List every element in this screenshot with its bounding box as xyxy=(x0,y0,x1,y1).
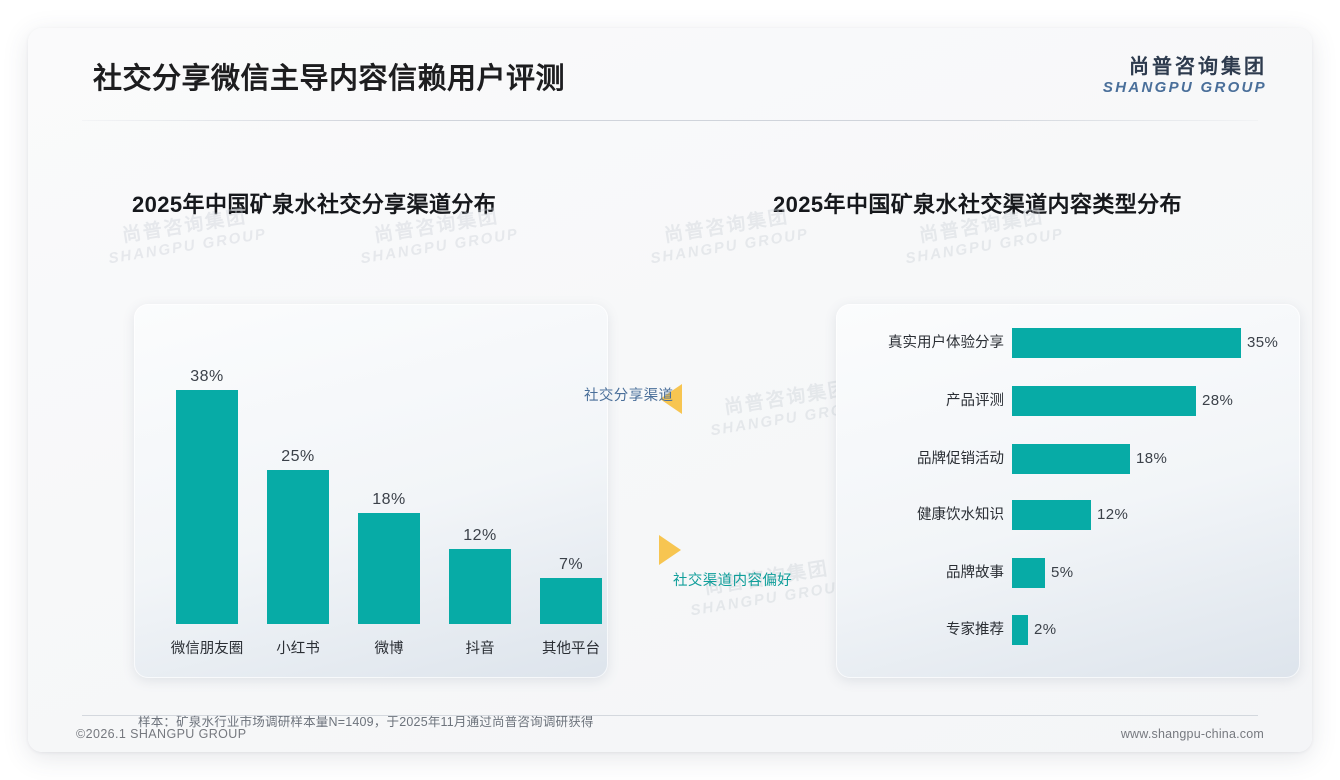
brand-logo: 尚普咨询集团 SHANGPU GROUP xyxy=(1103,57,1267,96)
slide-canvas: 社交分享微信主导内容信赖用户评测 尚普咨询集团 SHANGPU GROUP 20… xyxy=(28,28,1312,752)
bar-category-label: 品牌故事 xyxy=(836,558,1004,588)
bar-row[interactable]: 真实用户体验分享 35% xyxy=(836,328,1300,358)
bar-value: 18% xyxy=(344,491,434,509)
bar-value: 28% xyxy=(1202,386,1233,416)
bar-rect[interactable] xyxy=(540,578,602,624)
triangle-right-icon xyxy=(659,535,681,565)
annotation-label: 社交分享渠道 xyxy=(584,384,673,405)
right-chart-title: 2025年中国矿泉水社交渠道内容类型分布 xyxy=(773,187,1182,219)
right-chart-card: 真实用户体验分享 35% 产品评测 28% 品牌促销活动 18% 健康饮水知识 … xyxy=(836,304,1300,678)
bar-rect[interactable] xyxy=(1012,558,1045,588)
bar-category-label: 真实用户体验分享 xyxy=(836,328,1004,358)
bar-value: 18% xyxy=(1136,444,1167,474)
footer-website[interactable]: www.shangpu-china.com xyxy=(1121,727,1264,741)
bar-value: 12% xyxy=(1097,500,1128,530)
bar-rect[interactable] xyxy=(267,470,329,624)
bar-value: 7% xyxy=(526,556,608,574)
bar-row[interactable]: 健康饮水知识 12% xyxy=(836,500,1300,530)
bar-row[interactable]: 产品评测 28% xyxy=(836,386,1300,416)
bar-value: 5% xyxy=(1051,558,1073,588)
bar-value: 2% xyxy=(1034,615,1056,645)
bar-row[interactable]: 专家推荐 2% xyxy=(836,615,1300,645)
slide-footer: ©2026.1 SHANGPU GROUP www.shangpu-china.… xyxy=(28,716,1312,752)
vertical-bar-chart: 38% 微信朋友圈 25% 小红书 18% 微博 12% 抖音 7% xyxy=(134,304,608,678)
bar-rect[interactable] xyxy=(1012,500,1091,530)
bar-rect[interactable] xyxy=(1012,328,1241,358)
horizontal-bar-chart: 真实用户体验分享 35% 产品评测 28% 品牌促销活动 18% 健康饮水知识 … xyxy=(836,304,1300,678)
bar-category-label: 健康饮水知识 xyxy=(836,500,1004,530)
bar-rect[interactable] xyxy=(358,513,420,624)
page-title: 社交分享微信主导内容信赖用户评测 xyxy=(93,55,565,97)
header-divider xyxy=(82,120,1258,121)
annotation-label: 社交渠道内容偏好 xyxy=(673,569,792,590)
bar-row[interactable]: 品牌促销活动 18% xyxy=(836,444,1300,474)
bar-row[interactable]: 品牌故事 5% xyxy=(836,558,1300,588)
bar-rect[interactable] xyxy=(1012,386,1196,416)
bar-rect[interactable] xyxy=(449,549,511,624)
bar-category-label: 其他平台 xyxy=(516,637,608,658)
bar-rect[interactable] xyxy=(1012,615,1028,645)
left-chart-title: 2025年中国矿泉水社交分享渠道分布 xyxy=(132,187,496,219)
bar-rect[interactable] xyxy=(176,390,238,624)
bar-value: 12% xyxy=(435,527,525,545)
brand-name-en: SHANGPU GROUP xyxy=(1103,80,1267,96)
brand-name-cn: 尚普咨询集团 xyxy=(1103,57,1267,78)
slide-header: 社交分享微信主导内容信赖用户评测 尚普咨询集团 SHANGPU GROUP xyxy=(28,28,1312,121)
bar-category-label: 产品评测 xyxy=(836,386,1004,416)
bar-value: 35% xyxy=(1247,328,1278,358)
bar-rect[interactable] xyxy=(1012,444,1130,474)
bar-value: 25% xyxy=(253,448,343,466)
left-chart-card: 38% 微信朋友圈 25% 小红书 18% 微博 12% 抖音 7% xyxy=(134,304,608,678)
footer-copyright: ©2026.1 SHANGPU GROUP xyxy=(76,727,246,741)
bar-category-label: 专家推荐 xyxy=(836,615,1004,645)
bar-category-label: 品牌促销活动 xyxy=(836,444,1004,474)
bar-value: 38% xyxy=(162,368,252,386)
